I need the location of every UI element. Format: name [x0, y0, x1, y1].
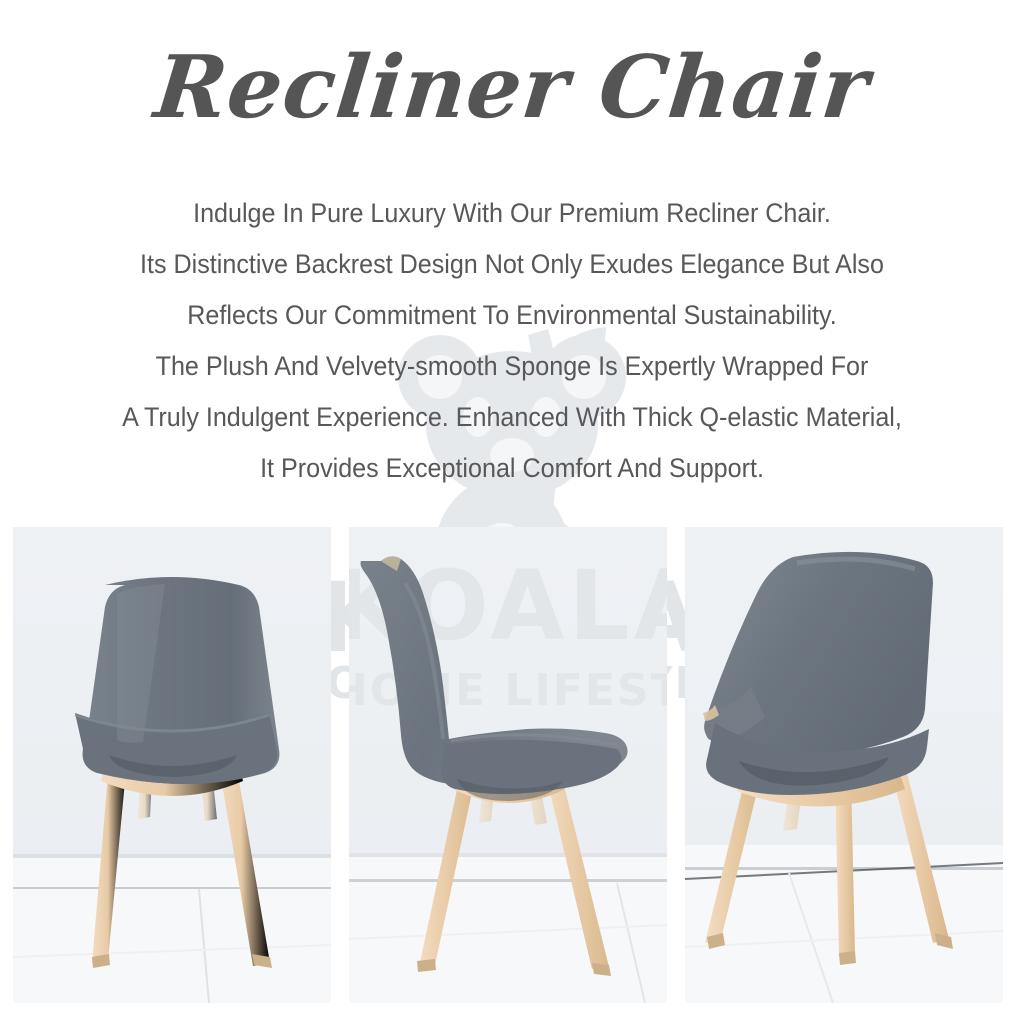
description-line: The Plush And Velvety-smooth Sponge Is E…: [36, 341, 988, 392]
product-photo-rear[interactable]: [685, 527, 1003, 1003]
description-line: Its Distinctive Backrest Design Not Only…: [36, 239, 988, 290]
page-title: Recliner Chair: [0, 36, 1024, 140]
product-photo-front[interactable]: [13, 527, 331, 1003]
product-poster: KOALA HOME LIFESTYLE Recliner Chair Indu…: [0, 0, 1024, 1024]
product-photo-side[interactable]: KOALA HOME LIFESTYLE: [349, 527, 667, 1003]
description-line: A Truly Indulgent Experience. Enhanced W…: [36, 392, 988, 443]
description-block: Indulge In Pure Luxury With Our Premium …: [0, 188, 1024, 494]
product-gallery: KOALA HOME LIFESTYLE: [13, 527, 1003, 1003]
description-line: It Provides Exceptional Comfort And Supp…: [36, 443, 988, 494]
description-line: Indulge In Pure Luxury With Our Premium …: [36, 188, 988, 239]
description-line: Reflects Our Commitment To Environmental…: [36, 290, 988, 341]
